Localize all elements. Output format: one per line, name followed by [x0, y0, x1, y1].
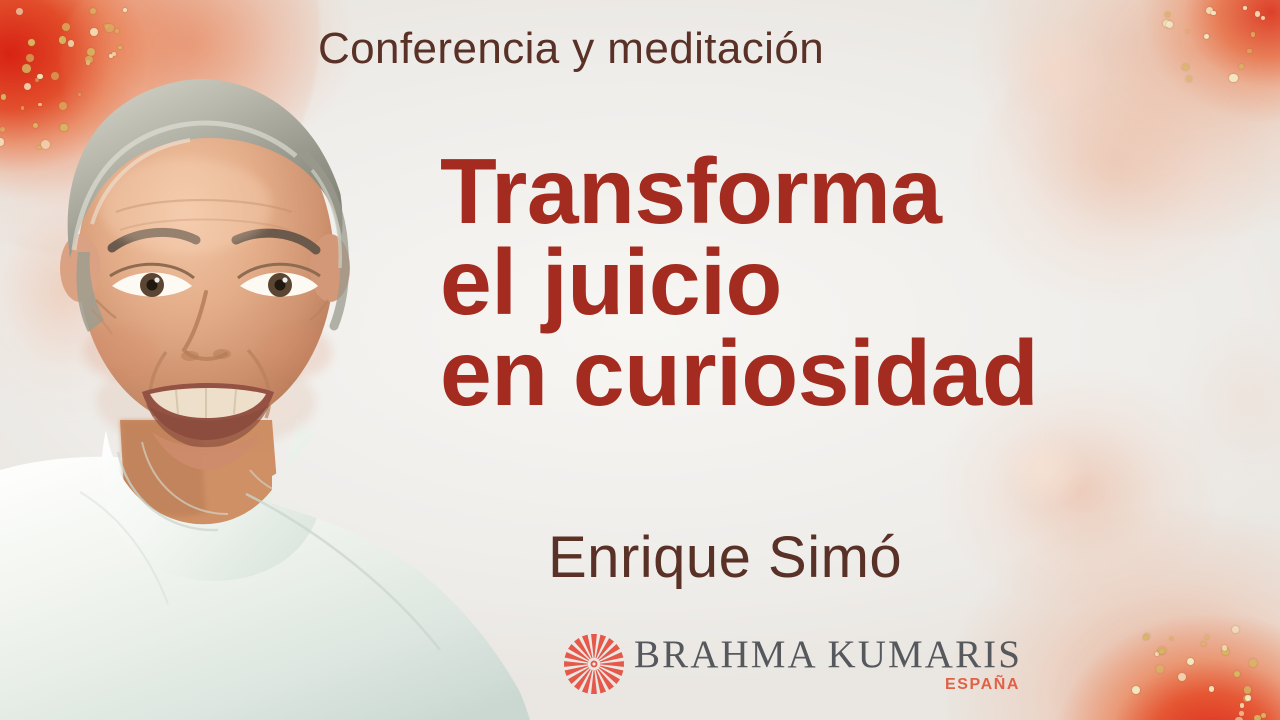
slide-eyebrow-label: Conferencia y meditación	[318, 24, 824, 74]
headline-line-1: Transforma	[440, 146, 1200, 237]
slide-headline: Transforma el juicio en curiosidad	[440, 146, 1200, 419]
sunburst-icon	[562, 632, 626, 696]
headline-line-2: el juicio	[440, 237, 1200, 328]
headline-line-3: en curiosidad	[440, 328, 1200, 419]
slide-content: Conferencia y meditación Transforma el j…	[0, 0, 1280, 720]
logo-subtitle: ESPAÑA	[945, 677, 1020, 693]
brahma-kumaris-logo: BRAHMA KUMARIS ESPAÑA	[562, 628, 1022, 700]
speaker-name: Enrique Simó	[548, 524, 902, 591]
presentation-slide: Conferencia y meditación Transforma el j…	[0, 0, 1280, 720]
logo-title: BRAHMA KUMARIS	[634, 635, 1022, 674]
logo-wordmark: BRAHMA KUMARIS ESPAÑA	[634, 635, 1022, 693]
